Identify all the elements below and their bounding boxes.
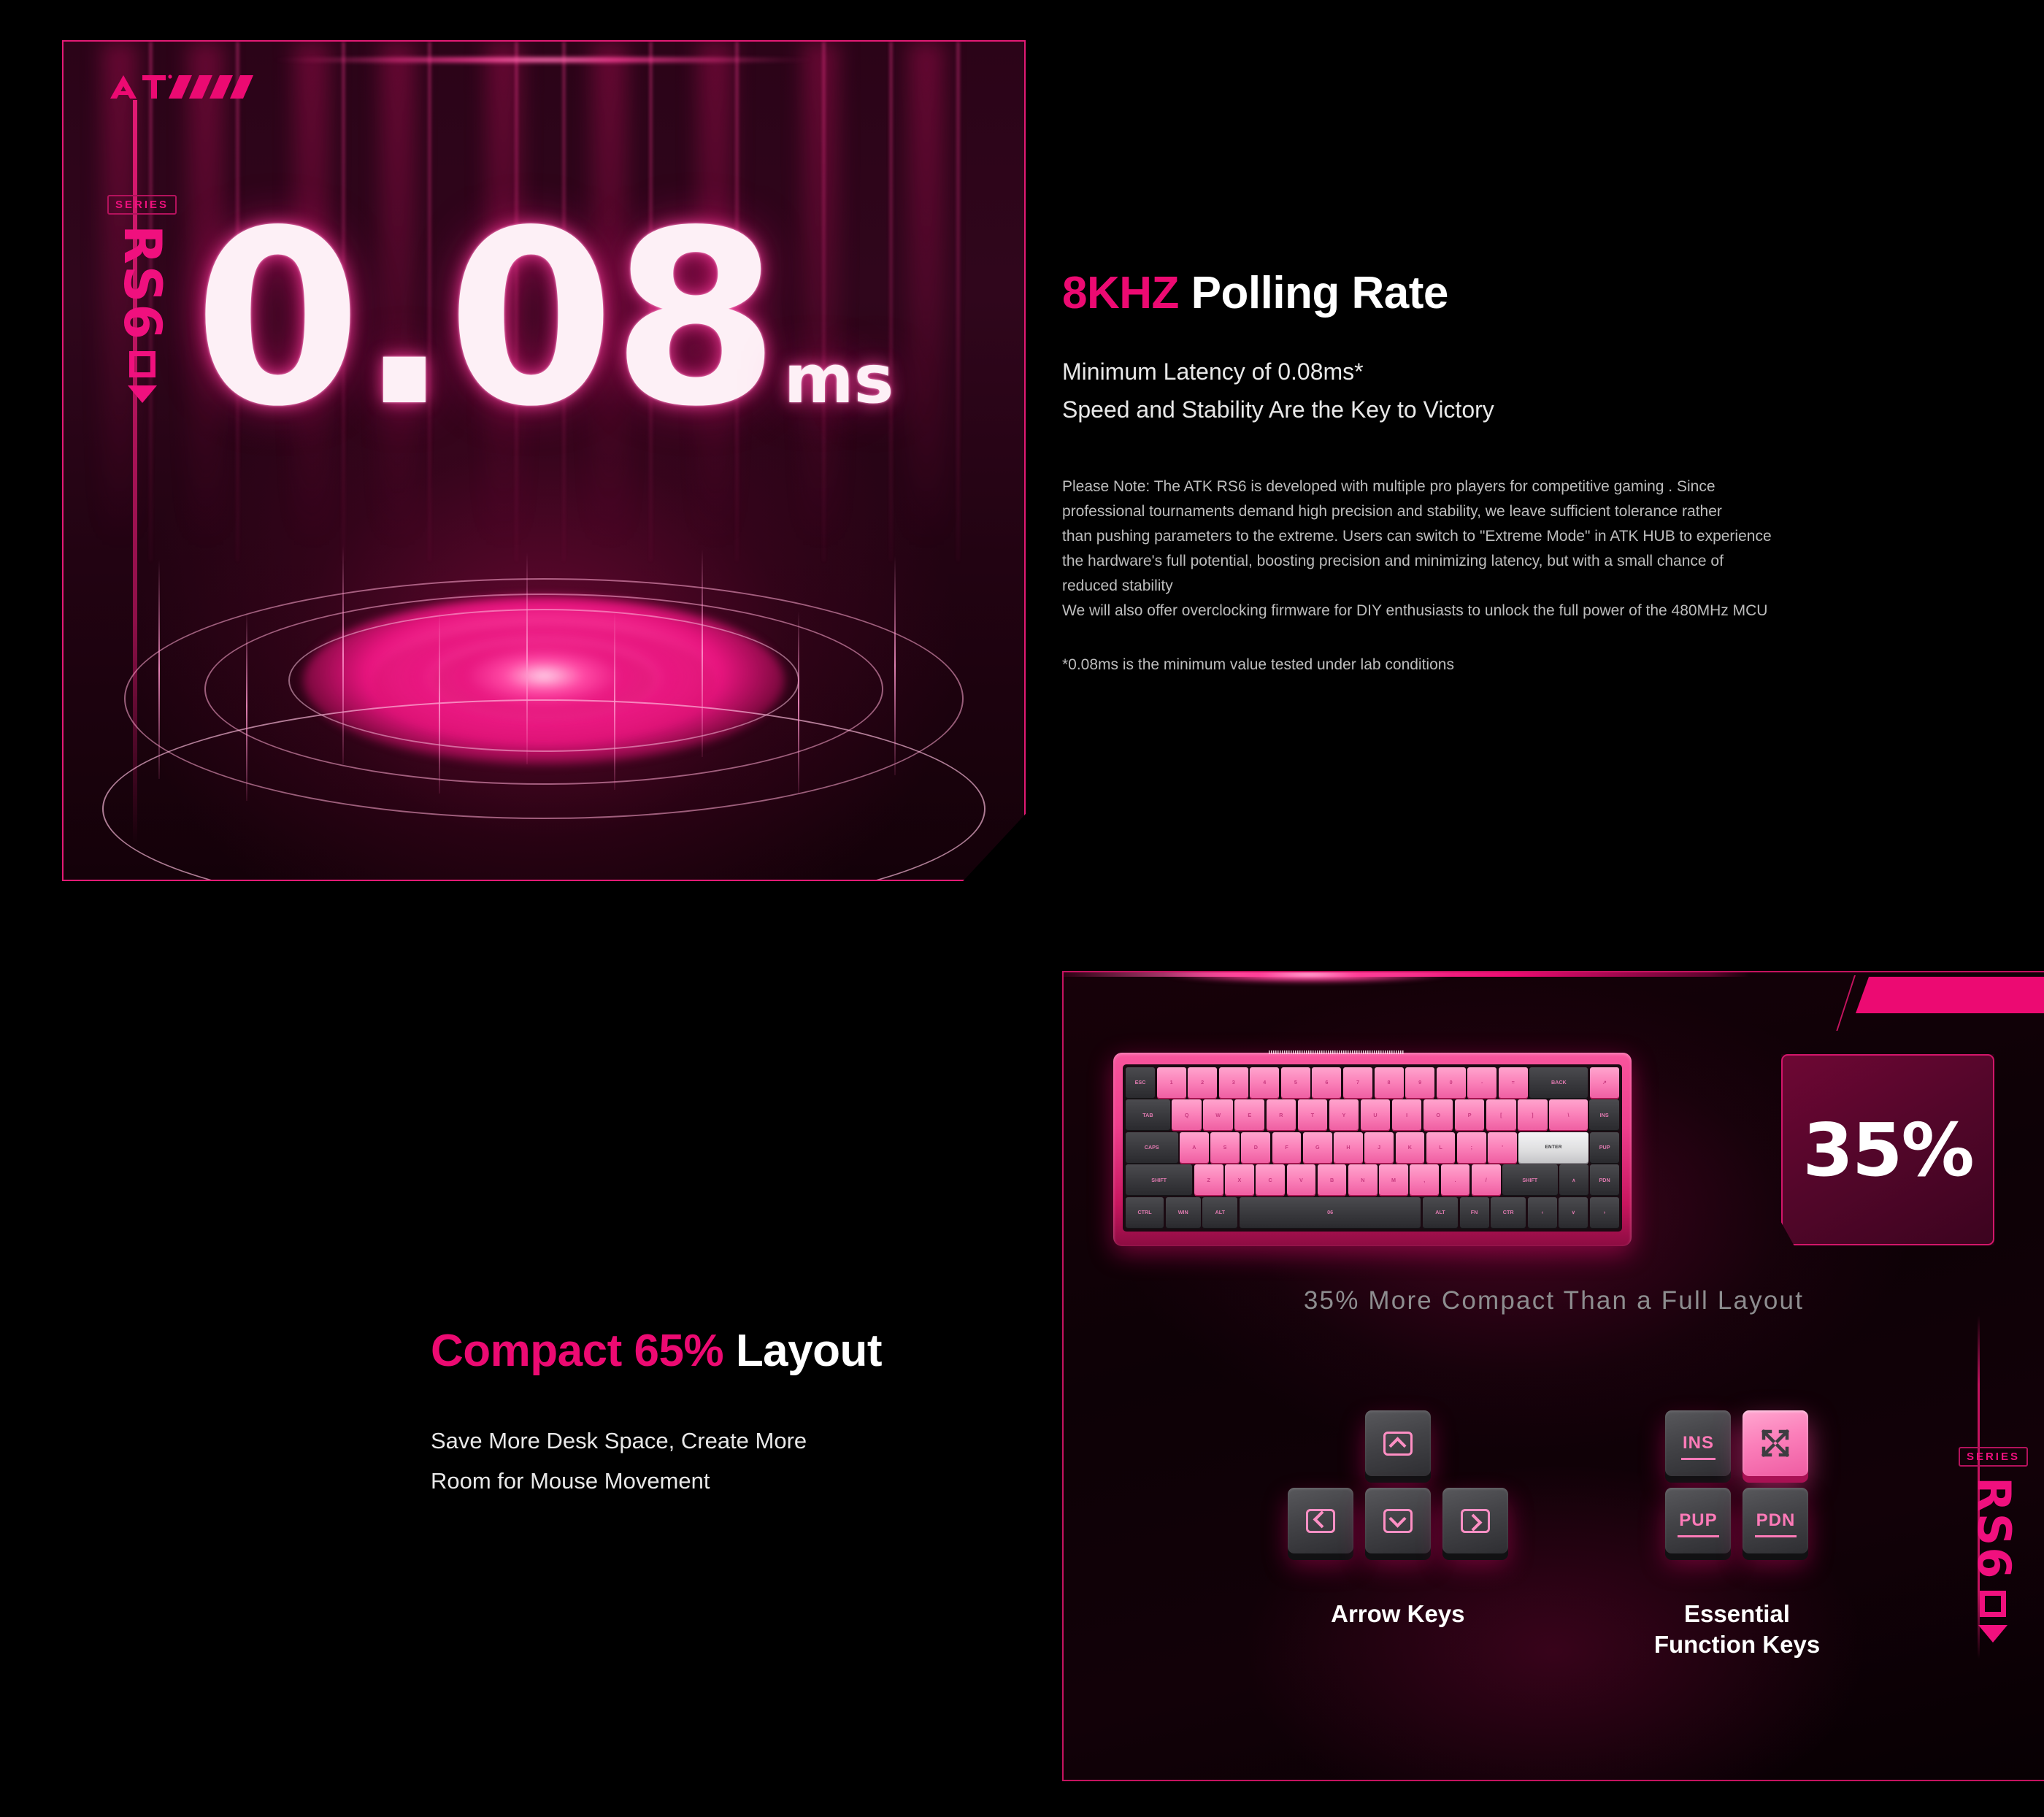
- product-feature-page: SERIES RS6 0: [0, 0, 2044, 1817]
- square-icon: [1980, 1591, 2006, 1617]
- keyboard-row: CAPSASD FGHJ KL;' ENTERPUP: [1126, 1132, 1619, 1163]
- triangle-down-icon: [1978, 1625, 2007, 1643]
- keyboard-row: CTRLWINALT 06ALTFN CTR‹∨›: [1126, 1197, 1619, 1228]
- function-keys-cluster: INS PUP: [1654, 1410, 1820, 1660]
- layout-title: Compact 65% Layout: [431, 1325, 1088, 1377]
- latency-number: 0.08: [194, 179, 777, 459]
- key-clusters: Arrow Keys INS: [1064, 1410, 2044, 1660]
- latency-subtitle-line1: Minimum Latency of 0.08ms*: [1062, 353, 2011, 391]
- layout-text-column: Compact 65% Layout Save More Desk Space,…: [431, 1325, 1088, 1501]
- arrow-right-icon: [1461, 1509, 1490, 1533]
- keyboard-row: ESC123 4567 890- =BACK↗: [1126, 1067, 1619, 1098]
- page-up-key-label: PUP: [1679, 1510, 1717, 1531]
- keyboard-vent: [1269, 1050, 1404, 1054]
- arrow-right-key: [1442, 1488, 1508, 1553]
- page-down-key-label: PDN: [1756, 1510, 1796, 1531]
- page-down-key: PDN: [1743, 1488, 1808, 1553]
- layout-title-accent: Compact 65%: [431, 1326, 723, 1376]
- hero-latency-value: 0.08ms: [64, 199, 1024, 439]
- arrow-keys-cluster: Arrow Keys: [1288, 1410, 1508, 1660]
- glow-pedestal-graphic: [106, 545, 982, 852]
- corner-pink-block: [1856, 977, 2044, 1013]
- corner-notch-decoration: [1786, 975, 1856, 1031]
- arrow-up-key: [1365, 1410, 1431, 1476]
- latency-subtitle: Minimum Latency of 0.08ms* Speed and Sta…: [1062, 353, 2011, 429]
- page-up-key: PUP: [1665, 1488, 1731, 1553]
- arrow-down-key: [1365, 1488, 1431, 1553]
- keyboard-image: ESC123 4567 890- =BACK↗ TABQWE RTYU IOP[…: [1113, 1053, 1632, 1246]
- rs6-vertical-brand: SERIES RS6: [1959, 1447, 2028, 1643]
- compact-percentage-badge: 35%: [1781, 1054, 1994, 1245]
- compact-layout-panel: ESC123 4567 890- =BACK↗ TABQWE RTYU IOP[…: [1062, 971, 2044, 1781]
- atk-logo: [109, 69, 277, 103]
- insert-key: INS: [1665, 1410, 1731, 1476]
- series-badge: SERIES: [1959, 1447, 2028, 1467]
- expand-key: [1743, 1410, 1808, 1476]
- latency-title: 8KHZ Polling Rate: [1062, 266, 2011, 320]
- top-light-flare: [1161, 971, 1456, 984]
- latency-text-column: 8KHZ Polling Rate Minimum Latency of 0.0…: [1062, 266, 2011, 677]
- arrow-left-icon: [1306, 1509, 1335, 1533]
- arrow-up-icon: [1383, 1432, 1413, 1456]
- expand-arrows-icon: [1759, 1427, 1791, 1459]
- brand-glyphs: [1978, 1591, 2007, 1643]
- latency-subtitle-line2: Speed and Stability Are the Key to Victo…: [1062, 391, 2011, 429]
- insert-key-label: INS: [1683, 1433, 1714, 1453]
- latency-unit: ms: [784, 340, 894, 418]
- latency-title-rest: Polling Rate: [1191, 268, 1448, 318]
- latency-disclaimer: Please Note: The ATK RS6 is developed wi…: [1062, 475, 1945, 623]
- latency-footnote: *0.08ms is the minimum value tested unde…: [1062, 653, 2011, 677]
- keyboard-caption: 35% More Compact Than a Full Layout: [1064, 1286, 2044, 1315]
- function-keys-label: Essential Function Keys: [1654, 1599, 1820, 1660]
- keyboard-row: TABQWE RTYU IOP[ ]\INS: [1126, 1099, 1619, 1130]
- layout-title-rest: Layout: [736, 1326, 882, 1376]
- badge-value: 35%: [1802, 1107, 1972, 1193]
- keyboard-row: SHIFTZXC VBNM ,./ SHIFT∧PDN: [1126, 1164, 1619, 1195]
- corner-accent-triangle: [979, 834, 1024, 880]
- layout-subtitle: Save More Desk Space, Create More Room f…: [431, 1421, 1088, 1501]
- latency-hero-panel: SERIES RS6 0: [62, 40, 1026, 881]
- model-name: RS6: [1972, 1477, 2015, 1580]
- latency-title-accent: 8KHZ: [1062, 268, 1179, 318]
- arrow-left-key: [1288, 1488, 1353, 1553]
- arrow-down-icon: [1383, 1509, 1413, 1533]
- top-light-flare: [275, 56, 813, 64]
- arrow-keys-label: Arrow Keys: [1331, 1599, 1464, 1629]
